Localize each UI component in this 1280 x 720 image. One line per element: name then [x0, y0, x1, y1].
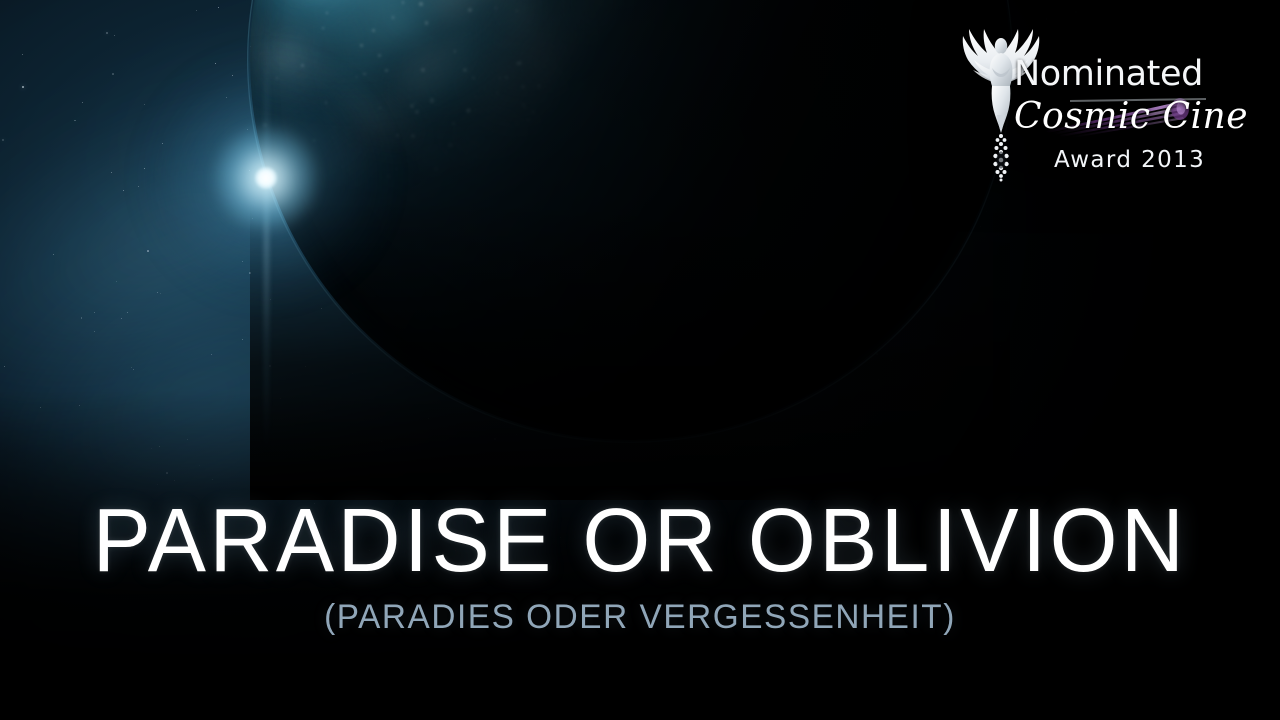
- main-title: PARADISE OR OBLIVION: [19, 496, 1261, 586]
- festival-name: Cosmic Cine: [1014, 96, 1226, 137]
- german-subtitle: (PARADIES ODER VERGESSENHEIT): [13, 600, 1267, 634]
- movie-title-card: PARADISE OR OBLIVION (PARADIES ODER VERG…: [0, 0, 1280, 720]
- award-badge: Nominated: [958, 18, 1226, 188]
- nominated-label: Nominated: [1014, 54, 1226, 94]
- award-year-label: Award 2013: [1054, 147, 1226, 173]
- title-block: PARADISE OR OBLIVION (PARADIES ODER VERG…: [0, 496, 1280, 634]
